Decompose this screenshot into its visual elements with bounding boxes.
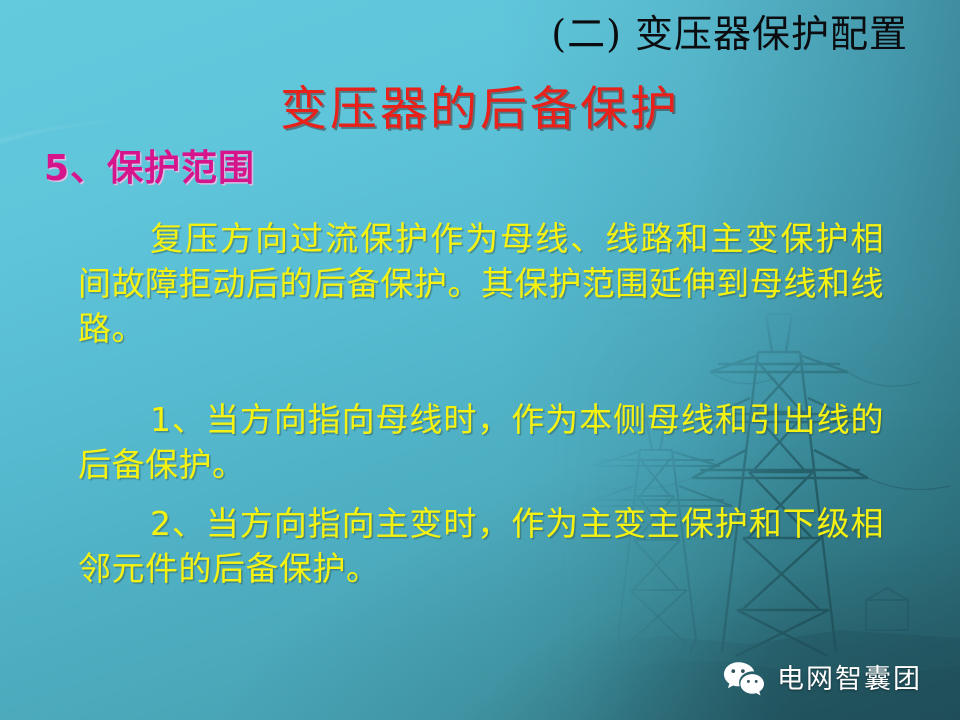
- page-title: 变压器的后备保护: [0, 84, 960, 136]
- section-heading: 5、保护范围: [44, 148, 255, 189]
- paragraph-item-2: 2、当方向指向主变时，作为主变主保护和下级相邻元件的后备保护。: [78, 501, 884, 591]
- watermark-label: 电网智囊团: [777, 666, 922, 693]
- body-content: 复压方向过流保护作为母线、线路和主变保护相间故障拒动后的后备保护。其保护范围延伸…: [78, 216, 884, 605]
- paragraph-intro: 复压方向过流保护作为母线、线路和主变保护相间故障拒动后的后备保护。其保护范围延伸…: [78, 216, 884, 351]
- slide-header: (二) 变压器保护配置: [0, 14, 908, 56]
- watermark: 电网智囊团: [722, 660, 922, 698]
- wechat-icon: [722, 660, 766, 698]
- slide-canvas: (二) 变压器保护配置 变压器的后备保护 5、保护范围 复压方向过流保护作为母线…: [0, 0, 960, 720]
- paragraph-item-1: 1、当方向指向母线时，作为本侧母线和引出线的后备保护。: [78, 397, 884, 487]
